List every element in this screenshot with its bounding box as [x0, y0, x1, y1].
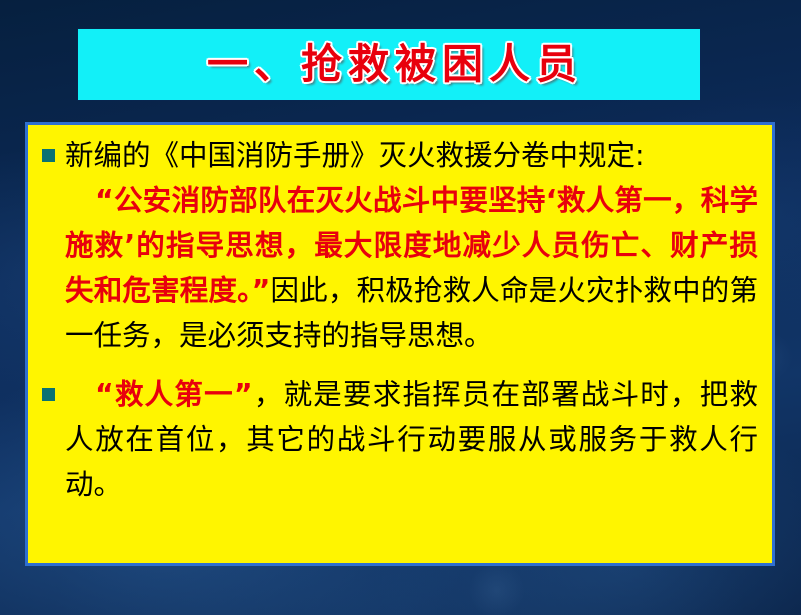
slide-title-banner: 一、抢救被困人员: [78, 29, 700, 100]
slide-content-panel: 新编的《中国消防手册》灭火救援分卷中规定: “公安消防部队在灭火战斗中要坚持‘救…: [25, 122, 775, 566]
bullet-square-icon: [42, 149, 55, 162]
bullet-1-text: 新编的《中国消防手册》灭火救援分卷中规定: “公安消防部队在灭火战斗中要坚持‘救…: [65, 133, 758, 358]
bullet-2-segment-1: “救人第一”: [95, 378, 253, 411]
bullet-item-1: 新编的《中国消防手册》灭火救援分卷中规定: “公安消防部队在灭火战斗中要坚持‘救…: [38, 133, 758, 358]
slide-title-text: 一、抢救被困人员: [195, 44, 583, 85]
bullet-square-icon: [42, 388, 55, 401]
presentation-slide: 一、抢救被困人员 新编的《中国消防手册》灭火救援分卷中规定: “公安消防部队在灭…: [0, 0, 801, 615]
bullet-item-2: “救人第一”，就是要求指挥员在部署战斗时，把救人放在首位，其它的战斗行动要服从或…: [38, 372, 758, 507]
bullet-1-segment-1: 新编的《中国消防手册》灭火救援分卷中规定:: [65, 139, 645, 172]
bullet-2-text: “救人第一”，就是要求指挥员在部署战斗时，把救人放在首位，其它的战斗行动要服从或…: [65, 372, 758, 507]
